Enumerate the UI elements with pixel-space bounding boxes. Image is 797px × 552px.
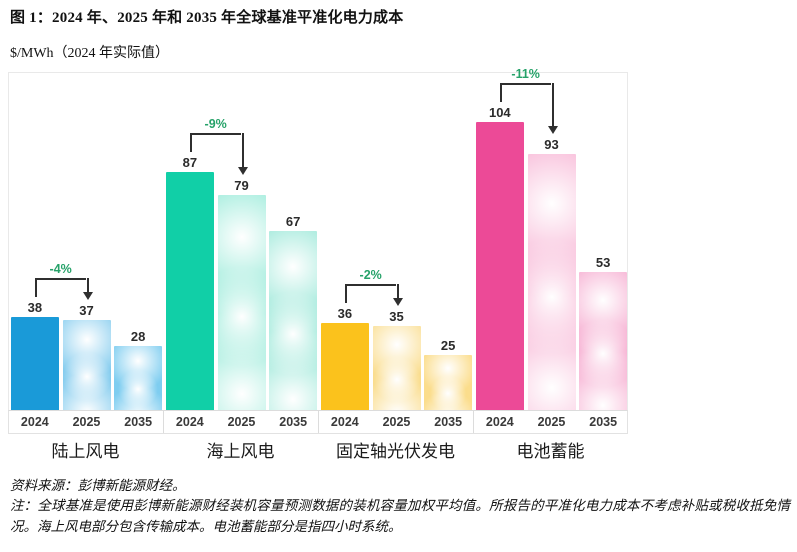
category-label-固定轴光伏发电: 固定轴光伏发电 — [318, 440, 473, 464]
axis-year-固定轴光伏发电-2025: 2025 — [371, 411, 423, 433]
axis-group-separator — [318, 411, 319, 433]
delta-label-电池蓄能: -11% — [470, 67, 582, 81]
bracket-left-line — [500, 83, 502, 102]
axis-year-海上风电-2035: 2035 — [267, 411, 319, 433]
axis-year-陆上风电-2035: 2035 — [112, 411, 164, 433]
chart-plot-area: 383728-4%877967-9%363525-2%1049353-11% — [8, 72, 628, 430]
source-line: 资料来源：彭博新能源财经。 — [10, 474, 186, 494]
axis-group-separator — [163, 411, 164, 433]
category-label-陆上风电: 陆上风电 — [8, 440, 163, 464]
axis-year-陆上风电-2024: 2024 — [9, 411, 61, 433]
axis-year-海上风电-2024: 2024 — [164, 411, 216, 433]
axis-year-固定轴光伏发电-2024: 2024 — [319, 411, 371, 433]
axis-year-电池蓄能-2025: 2025 — [526, 411, 578, 433]
bracket-right-line — [552, 83, 554, 127]
axis-year-海上风电-2025: 2025 — [216, 411, 268, 433]
axis-year-固定轴光伏发电-2035: 2035 — [422, 411, 474, 433]
bars-container: 383728-4%877967-9%363525-2%1049353-11% — [9, 73, 627, 429]
note-line: 注：全球基准是使用彭博新能源财经装机容量预测数据的装机容量加权平均值。所报告的平… — [10, 496, 790, 537]
category-label-电池蓄能: 电池蓄能 — [473, 440, 628, 464]
axis-unit-label: $/MWh（2024 年实际值） — [10, 42, 169, 62]
delta-bracket-电池蓄能 — [9, 73, 629, 431]
axis-year-电池蓄能-2024: 2024 — [474, 411, 526, 433]
bracket-arrow-icon — [548, 126, 558, 134]
figure-page: 图 1：2024 年、2025 年和 2035 年全球基准平准化电力成本 $/M… — [0, 0, 797, 552]
axis-year-陆上风电-2025: 2025 — [61, 411, 113, 433]
axis-year-电池蓄能-2035: 2035 — [577, 411, 629, 433]
category-label-海上风电: 海上风电 — [163, 440, 318, 464]
bracket-top-line — [500, 83, 552, 85]
axis-group-separator — [473, 411, 474, 433]
page-title: 图 1：2024 年、2025 年和 2035 年全球基准平准化电力成本 — [10, 6, 403, 27]
